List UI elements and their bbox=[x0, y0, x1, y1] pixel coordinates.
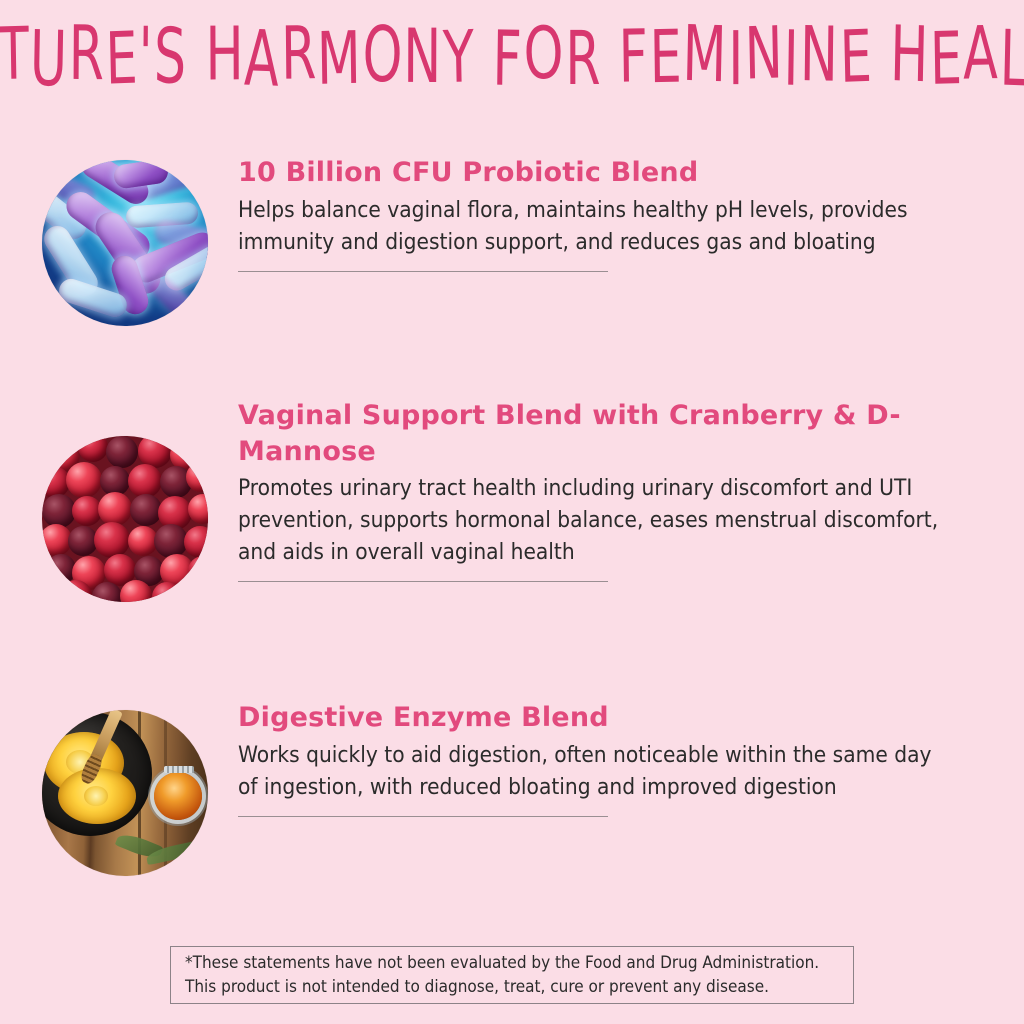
section-divider bbox=[238, 816, 608, 817]
title-char: E bbox=[105, 15, 140, 100]
title-char: A bbox=[963, 10, 1000, 96]
title-char: E bbox=[839, 13, 874, 98]
title-char bbox=[873, 12, 891, 99]
pineapple-core bbox=[84, 786, 108, 806]
title-char: N bbox=[744, 10, 785, 95]
title-char: M bbox=[317, 15, 363, 101]
probiotic-bacteria-photo bbox=[42, 160, 208, 326]
section-heading: Digestive Enzyme Blend bbox=[238, 700, 978, 736]
title-char: L bbox=[999, 12, 1024, 103]
title-char: E bbox=[930, 15, 965, 101]
page-title: NATURE'S HARMONY FOR FEMININE HEALTH bbox=[0, 12, 1024, 99]
section-heading: 10 Billion CFU Probiotic Blend bbox=[238, 155, 978, 191]
disclaimer-line-2: This product is not intended to diagnose… bbox=[185, 975, 839, 999]
title-char: H bbox=[205, 10, 245, 97]
cranberry bbox=[42, 494, 76, 528]
cranberry bbox=[184, 526, 208, 558]
title-char: A bbox=[244, 13, 282, 104]
title-char: N bbox=[404, 12, 444, 100]
title-char bbox=[187, 14, 206, 99]
section-heading: Vaginal Support Blend with Cranberry & D… bbox=[238, 398, 978, 469]
cranberry bbox=[98, 492, 132, 526]
title-char: E bbox=[649, 13, 683, 99]
title-char: ' bbox=[139, 10, 155, 98]
fda-disclaimer-box: *These statements have not been evaluate… bbox=[170, 946, 854, 1004]
section-body: Helps balance vaginal flora, maintains h… bbox=[238, 195, 956, 259]
title-char: U bbox=[30, 13, 70, 104]
title-char: F bbox=[619, 13, 651, 99]
page-title-banner: NATURE'S HARMONY FOR FEMININE HEALTH bbox=[0, 8, 1024, 103]
cranberry bbox=[178, 580, 208, 602]
title-char: H bbox=[890, 8, 931, 99]
section-divider bbox=[238, 271, 608, 272]
title-char: M bbox=[682, 8, 729, 100]
title-char: N bbox=[800, 9, 840, 98]
cranberry bbox=[106, 436, 138, 468]
disclaimer-line-1: *These statements have not been evaluate… bbox=[185, 951, 839, 975]
title-char: Y bbox=[443, 14, 477, 99]
cranberry bbox=[94, 522, 130, 558]
honey-jar bbox=[154, 772, 202, 820]
title-char: O bbox=[523, 10, 566, 96]
title-char: R bbox=[281, 10, 318, 96]
title-char: F bbox=[493, 13, 525, 103]
cranberry bbox=[66, 462, 102, 498]
section-body: Promotes urinary tract health including … bbox=[238, 473, 956, 569]
title-char: R bbox=[69, 9, 106, 97]
title-char: T bbox=[0, 11, 31, 97]
cranberries-photo bbox=[42, 436, 208, 602]
cranberry bbox=[128, 464, 162, 498]
section-body: Works quickly to aid digestion, often no… bbox=[238, 740, 956, 804]
pineapple-honey-photo bbox=[42, 710, 208, 876]
cranberry bbox=[154, 524, 188, 558]
title-char: I bbox=[784, 13, 802, 102]
honey-jar-clip bbox=[164, 766, 194, 773]
cranberry bbox=[186, 462, 208, 492]
title-char: R bbox=[565, 14, 602, 101]
title-char: I bbox=[728, 15, 744, 102]
title-char bbox=[475, 9, 494, 98]
title-char: O bbox=[362, 8, 405, 99]
section-divider bbox=[238, 581, 608, 582]
title-char: S bbox=[154, 11, 189, 101]
